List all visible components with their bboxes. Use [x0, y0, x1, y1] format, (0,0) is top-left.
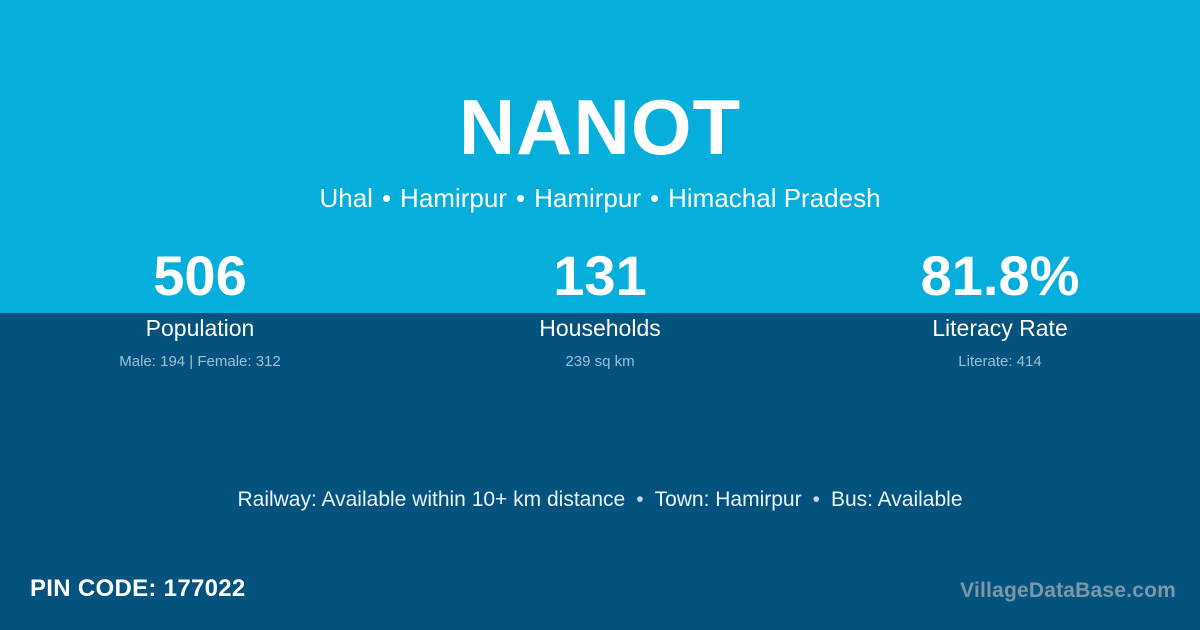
breadcrumb-item-block: Uhal: [319, 183, 372, 213]
stat-label: Households: [400, 313, 800, 343]
stat-value: 131: [400, 244, 800, 308]
breadcrumb-separator-icon: •: [373, 183, 400, 214]
amenity-bus: Bus: Available: [831, 488, 963, 511]
stat-subtext: Male: 194 | Female: 312: [0, 352, 400, 372]
card-footer: PIN CODE: 177022 VillageDataBase.com: [0, 572, 1200, 612]
page-title: NANOT: [0, 88, 1200, 166]
amenity-railway: Railway: Available within 10+ km distanc…: [237, 488, 625, 511]
amenity-town: Town: Hamirpur: [655, 488, 802, 511]
breadcrumb-separator-icon: •: [507, 183, 534, 214]
breadcrumb: Uhal•Hamirpur•Hamirpur•Himachal Pradesh: [0, 183, 1200, 214]
stat-subtext: Literate: 414: [800, 352, 1200, 372]
stat-label: Population: [0, 313, 400, 343]
breadcrumb-separator-icon: •: [641, 183, 668, 214]
stat-literacy-rate: 81.8% Literacy Rate Literate: 414: [800, 244, 1200, 372]
stats-row: 506 Population Male: 194 | Female: 312 1…: [0, 244, 1200, 372]
pin-code: PIN CODE: 177022: [30, 572, 246, 606]
amenity-separator-icon: •: [802, 486, 831, 514]
village-info-card: NANOT Uhal•Hamirpur•Hamirpur•Himachal Pr…: [0, 0, 1200, 630]
stat-label: Literacy Rate: [800, 313, 1200, 343]
breadcrumb-item-district: Hamirpur: [534, 183, 641, 213]
breadcrumb-item-subdistrict: Hamirpur: [400, 183, 507, 213]
stat-value: 81.8%: [800, 244, 1200, 308]
stat-subtext: 239 sq km: [400, 352, 800, 372]
breadcrumb-item-state: Himachal Pradesh: [668, 183, 880, 213]
amenity-separator-icon: •: [625, 486, 654, 514]
stat-households: 131 Households 239 sq km: [400, 244, 800, 372]
stat-value: 506: [0, 244, 400, 308]
amenities-line: Railway: Available within 10+ km distanc…: [0, 486, 1200, 514]
stat-population: 506 Population Male: 194 | Female: 312: [0, 244, 400, 372]
site-watermark: VillageDataBase.com: [960, 576, 1176, 606]
